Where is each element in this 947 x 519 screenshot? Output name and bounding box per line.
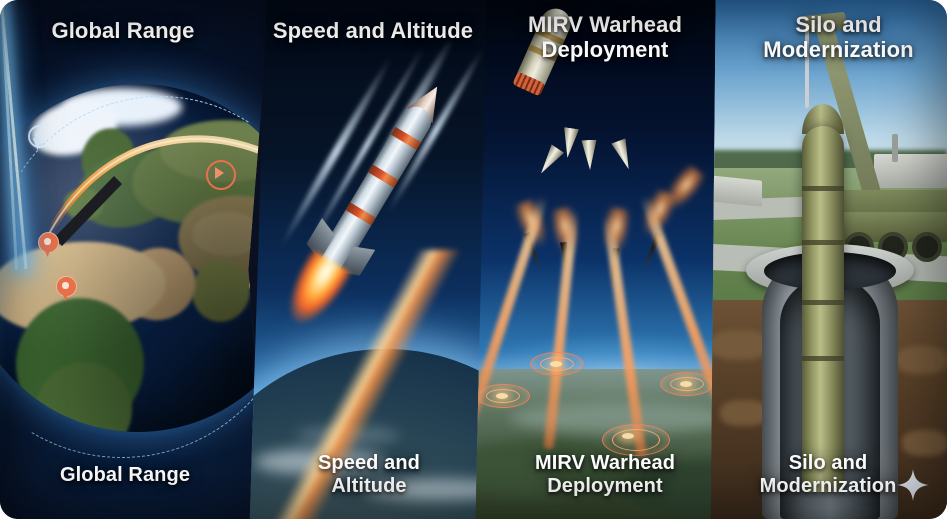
antenna-mast (892, 134, 898, 162)
infographic-stage: Global Range Speed and Altitude MIRV War… (0, 0, 947, 519)
panel-title-line-2: Deployment (500, 37, 710, 62)
sparkle-icon (896, 468, 930, 502)
panel-speed-and-altitude[interactable] (236, 0, 511, 519)
rock (710, 330, 768, 360)
panel-speed-artwork (236, 0, 511, 519)
panel-caption-speed-and-altitude: Speed and Altitude (258, 452, 480, 498)
panel-title-speed-and-altitude: Speed and Altitude (258, 18, 488, 43)
missile-band (802, 300, 844, 305)
intermediate-pin[interactable] (56, 276, 75, 302)
panel-title-mirv-warhead-deployment: MIRV Warhead Deployment (500, 12, 710, 62)
missile-band (802, 240, 844, 245)
missile-band (802, 356, 844, 361)
silo-missile (802, 126, 844, 492)
panel-caption-line-2: Altitude (258, 475, 480, 498)
support-bunker (710, 175, 762, 206)
missile-band (802, 186, 844, 191)
support-bunker (874, 154, 947, 188)
panel-silo-and-modernization[interactable] (706, 0, 947, 519)
impact-marker[interactable] (660, 372, 714, 396)
panel-title-line-1: MIRV Warhead (500, 12, 710, 37)
rock (896, 346, 947, 374)
panel-mirv-warhead-deployment[interactable] (470, 0, 750, 519)
panel-caption-mirv-warhead-deployment: MIRV Warhead Deployment (496, 452, 714, 498)
panel-silo-artwork (706, 0, 947, 519)
panel-global-range-artwork (0, 0, 270, 519)
waypoint-pin[interactable] (28, 125, 47, 151)
panel-mirv-artwork (470, 0, 750, 519)
target-marker-ring[interactable] (206, 160, 236, 190)
panel-caption-line-2: Deployment (496, 475, 714, 498)
panel-caption-line-1: Speed and (258, 452, 480, 475)
impact-marker[interactable] (476, 384, 530, 408)
rock (720, 400, 768, 426)
launch-site-pin[interactable] (38, 232, 57, 258)
panel-global-range[interactable] (0, 0, 270, 519)
infographic-board: Global Range Speed and Altitude MIRV War… (0, 0, 947, 519)
truck-wheel (912, 232, 942, 262)
impact-marker[interactable] (530, 352, 584, 376)
panel-caption-global-range: Global Range (10, 464, 240, 487)
panel-title-global-range: Global Range (8, 18, 238, 43)
panel-title-silo-and-modernization: Silo and Modernization (736, 12, 941, 62)
panel-title-line-2: Modernization (736, 37, 941, 62)
panel-title-line-1: Silo and (736, 12, 941, 37)
panel-caption-line-1: MIRV Warhead (496, 452, 714, 475)
